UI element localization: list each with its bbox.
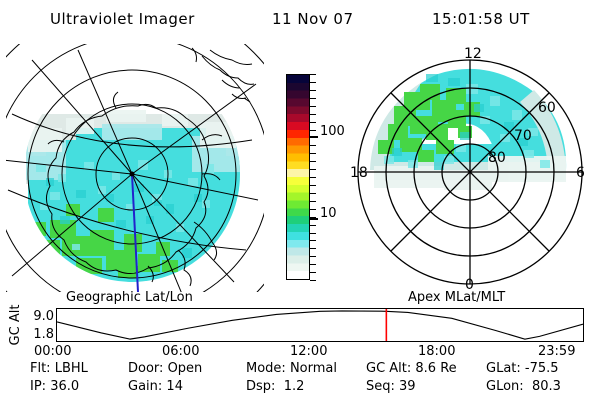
mlat-label-70: 70 <box>514 128 532 144</box>
status-gcalt-value: 8.6 Re <box>415 361 456 376</box>
right-panel-caption: Apex MLat/MLT <box>408 290 505 305</box>
orbit-xtick-2: 12:00 <box>290 344 327 359</box>
orbit-xtick-4: 23:59 <box>538 344 575 359</box>
status-glat: GLat: -75.5 <box>486 361 559 376</box>
status-glon-key: GLon: <box>486 379 524 394</box>
orbit-altitude-strip[interactable]: GC Alt 9.0 1.8 00:00 06:00 12:00 18:00 2… <box>0 304 600 356</box>
colorbar[interactable]: photon cm-2s-1 100 10 <box>268 70 344 286</box>
orbit-xtick-1: 06:00 <box>162 344 199 359</box>
status-row-2: IP: 36.0 Gain: 14 Dsp: 1.2 Seq: 39 GLon:… <box>0 379 600 397</box>
status-mode-key: Mode: <box>246 361 286 376</box>
instrument-title: Ultraviolet Imager <box>50 10 195 28</box>
status-seq-value: 39 <box>399 379 416 394</box>
orbit-xtick-0: 00:00 <box>34 344 71 359</box>
status-glat-value: -75.5 <box>525 361 559 376</box>
status-row-1: Flt: LBHL Door: Open Mode: Normal GC Alt… <box>0 361 600 379</box>
observation-date: 11 Nov 07 <box>272 10 354 28</box>
status-gain-value: 14 <box>166 379 183 394</box>
observation-time: 15:01:58 UT <box>432 10 530 28</box>
status-glon: GLon: 80.3 <box>486 379 561 394</box>
status-ip-value: 36.0 <box>50 379 79 394</box>
status-gain: Gain: 14 <box>128 379 183 394</box>
orbit-ytick-high: 9.0 <box>33 309 54 324</box>
orbit-plot-box[interactable] <box>56 308 584 342</box>
orbit-altitude-trace <box>57 311 583 339</box>
status-dsp-value: 1.2 <box>284 379 305 394</box>
status-ip-key: IP: <box>30 379 46 394</box>
orbit-xtick-labels: 00:00 06:00 12:00 18:00 23:59 <box>0 344 600 360</box>
colorbar-gradient <box>287 75 309 279</box>
apex-mlat-mlt-plot[interactable]: 12 18 6 0 60 70 80 <box>348 44 592 292</box>
geographic-polar-plot[interactable] <box>6 44 264 292</box>
pole-marker <box>130 172 135 177</box>
orbit-ytick-low: 1.8 <box>33 327 54 342</box>
status-door: Door: Open <box>128 361 202 376</box>
colorbar-tick-label-10: 10 <box>320 206 337 221</box>
colorbar-ticks <box>310 74 318 280</box>
status-seq: Seq: 39 <box>366 379 416 394</box>
colorbar-gradient-box <box>286 74 310 280</box>
uvi-viewer: Ultraviolet Imager 11 Nov 07 15:01:58 UT <box>0 0 600 400</box>
status-door-key: Door: <box>128 361 163 376</box>
status-dsp-key: Dsp: <box>246 379 275 394</box>
header: Ultraviolet Imager 11 Nov 07 15:01:58 UT <box>0 6 600 32</box>
status-dsp: Dsp: 1.2 <box>246 379 304 394</box>
orbit-ytick-labels: 9.0 1.8 <box>14 308 54 342</box>
status-seq-key: Seq: <box>366 379 395 394</box>
status-flt-value: LBHL <box>55 361 88 376</box>
status-block: Flt: LBHL Door: Open Mode: Normal GC Alt… <box>0 360 600 400</box>
status-gcalt: GC Alt: 8.6 Re <box>366 361 457 376</box>
orbit-xtick-3: 18:00 <box>418 344 455 359</box>
status-gain-key: Gain: <box>128 379 162 394</box>
mlt-label-12: 12 <box>464 46 482 62</box>
mlt-label-18: 18 <box>350 165 368 181</box>
status-flt: Flt: LBHL <box>30 361 88 376</box>
mlt-spokes <box>358 60 582 284</box>
status-mode-value: Normal <box>290 361 337 376</box>
status-flt-key: Flt: <box>30 361 51 376</box>
status-door-value: Open <box>168 361 203 376</box>
colorbar-tick-label-100: 100 <box>320 124 345 139</box>
status-glat-key: GLat: <box>486 361 521 376</box>
status-glon-value: 80.3 <box>532 379 561 394</box>
mlat-label-80: 80 <box>488 150 506 166</box>
status-mode: Mode: Normal <box>246 361 337 376</box>
left-panel-caption: Geographic Lat/Lon <box>66 290 193 305</box>
mlat-label-60: 60 <box>538 100 556 116</box>
mlt-label-6: 6 <box>576 165 585 181</box>
status-ip: IP: 36.0 <box>30 379 79 394</box>
status-gcalt-key: GC Alt: <box>366 361 411 376</box>
